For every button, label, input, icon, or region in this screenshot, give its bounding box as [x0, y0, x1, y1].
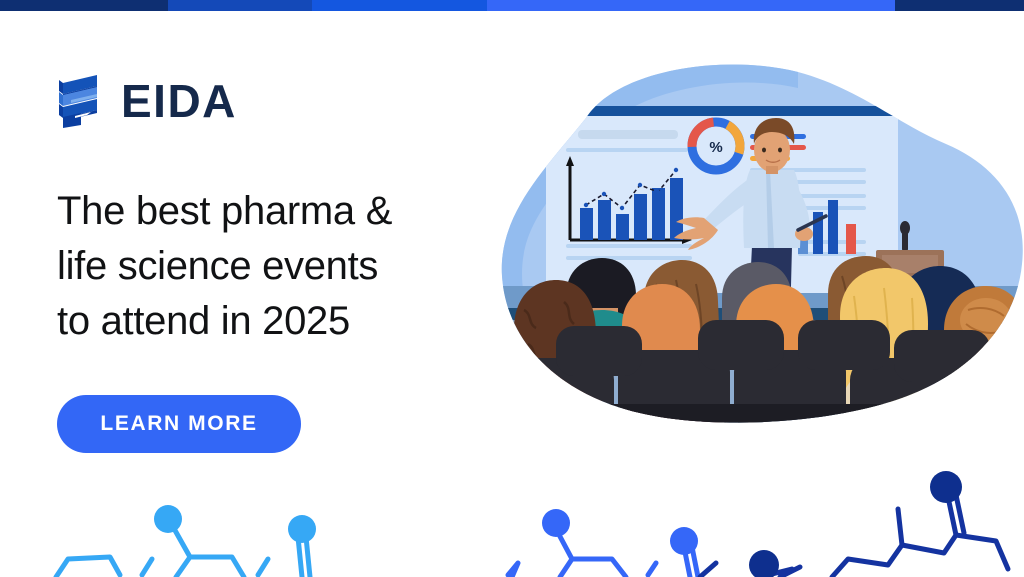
- donut-center-label: %: [709, 139, 722, 156]
- top-color-stripe: [0, 0, 1024, 11]
- molecule-atom: [154, 505, 182, 533]
- molecule-group-2: [508, 529, 698, 577]
- learn-more-button[interactable]: LEARN MORE: [57, 395, 301, 453]
- headline-line-2: life science events: [57, 239, 457, 294]
- molecule-atom: [930, 471, 962, 503]
- molecule-atom: [542, 509, 570, 537]
- stripe-segment-blue-2: [312, 0, 487, 11]
- stripe-segment-navy-right: [895, 0, 1024, 11]
- brand-logo[interactable]: EIDA: [57, 70, 477, 132]
- headline-line-3: to attend in 2025: [57, 294, 457, 349]
- molecule-atom: [288, 515, 316, 543]
- headline-line-1: The best pharma &: [57, 184, 457, 239]
- molecule-atom: [670, 527, 698, 555]
- microphone-icon: [900, 221, 910, 235]
- audience-chairs: [498, 320, 1024, 428]
- stripe-segment-navy-left: [0, 0, 168, 11]
- screen-header-bar: [542, 106, 902, 116]
- stripe-segment-bright: [487, 0, 895, 11]
- molecule-line-art: [0, 467, 1024, 577]
- eida-logo-icon: [57, 73, 107, 129]
- molecule-group-1: [56, 525, 310, 577]
- molecule-atom: [749, 550, 779, 577]
- page-title: The best pharma & life science events to…: [57, 184, 457, 349]
- conference-presentation-illustration: %: [498, 58, 1024, 428]
- brand-wordmark: EIDA: [121, 78, 237, 124]
- banner-content-column: EIDA The best pharma & life science even…: [57, 70, 477, 453]
- stripe-segment-blue-1: [168, 0, 312, 11]
- marketing-banner: EIDA The best pharma & life science even…: [0, 0, 1024, 577]
- molecule-group-3: [700, 495, 1008, 577]
